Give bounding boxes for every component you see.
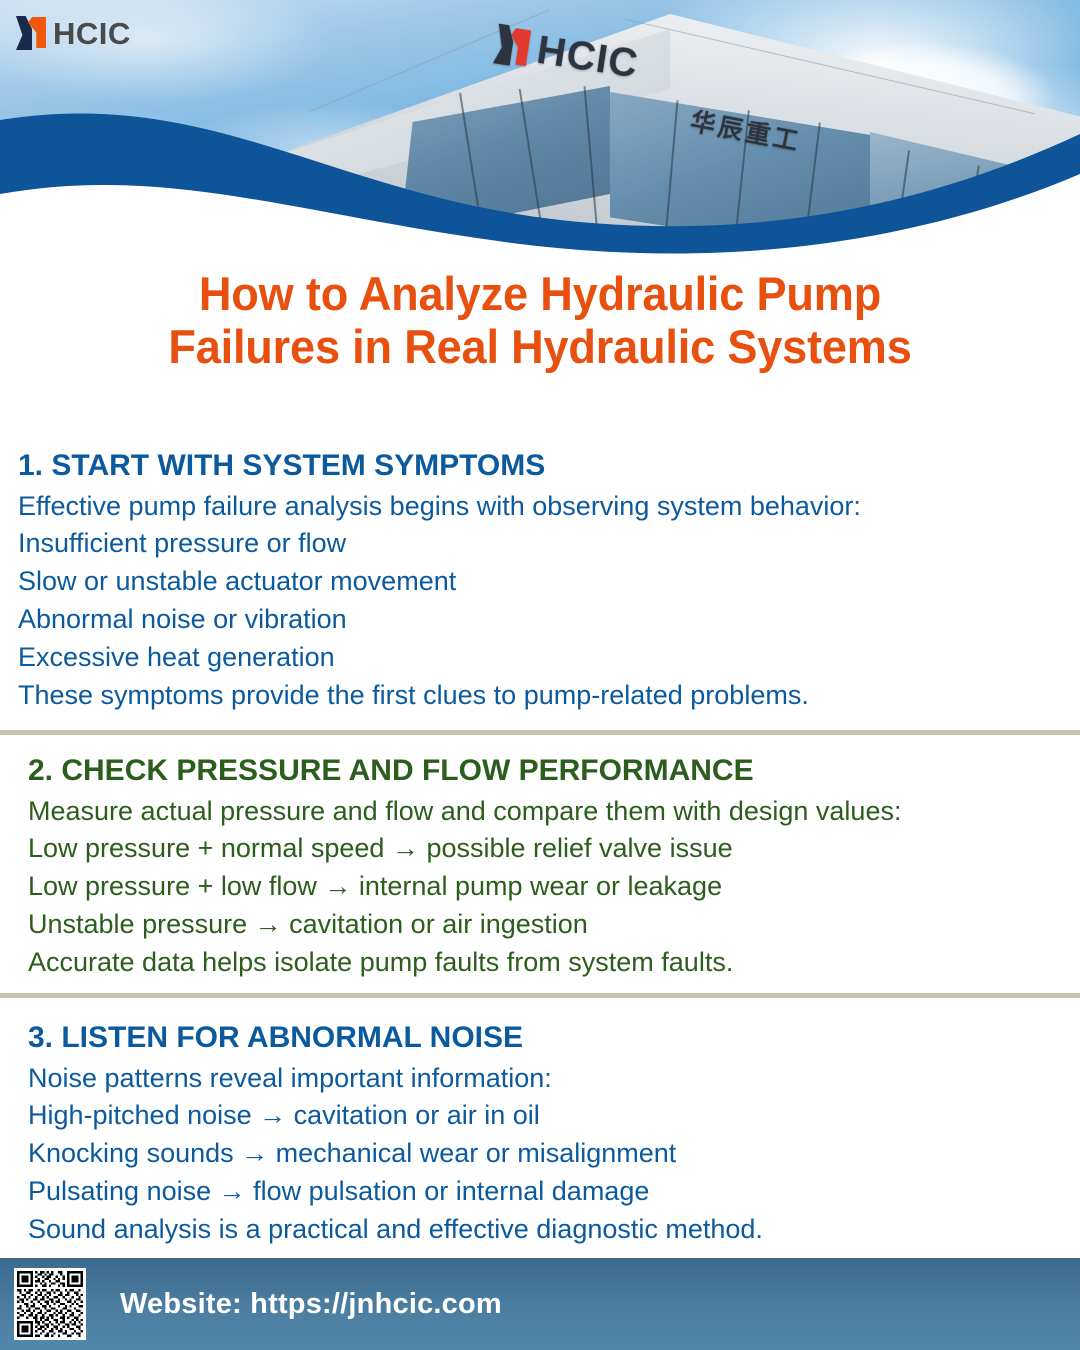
section-1-line: Abnormal noise or vibration	[18, 601, 1058, 639]
section-1-line: These symptoms provide the first clues t…	[18, 677, 1058, 715]
section-2-line: Accurate data helps isolate pump faults …	[28, 944, 1068, 982]
section-1-line: Slow or unstable actuator movement	[18, 563, 1058, 601]
section-3-line: Knocking sounds → mechanical wear or mis…	[28, 1135, 1068, 1173]
section-2-line: Low pressure + normal speed → possible r…	[28, 830, 1068, 868]
section-2-line: Measure actual pressure and flow and com…	[28, 793, 1068, 831]
section-3-line: Sound analysis is a practical and effect…	[28, 1211, 1068, 1249]
section-divider-1	[0, 730, 1080, 735]
page-title-line-1: How to Analyze Hydraulic Pump	[22, 268, 1059, 321]
section-3: 3. LISTEN FOR ABNORMAL NOISE Noise patte…	[28, 1020, 1068, 1249]
qr-code[interactable]	[14, 1268, 86, 1340]
section-2: 2. CHECK PRESSURE AND FLOW PERFORMANCE M…	[28, 753, 1068, 982]
brand-logo-text: HCIC	[53, 18, 131, 49]
hero-banner: HCIC 华辰重工 HCIC	[0, 0, 1080, 258]
white-wave-mask	[0, 108, 1080, 258]
section-divider-2	[0, 993, 1080, 998]
page-title: How to Analyze Hydraulic Pump Failures i…	[22, 268, 1059, 373]
brand-logo: HCIC	[16, 16, 131, 50]
section-3-line: Pulsating noise → flow pulsation or inte…	[28, 1173, 1068, 1211]
website-label[interactable]: Website: https://jnhcic.com	[120, 1288, 502, 1321]
hcic-logo-mark-building	[493, 24, 533, 69]
section-3-heading: 3. LISTEN FOR ABNORMAL NOISE	[28, 1020, 1068, 1057]
section-2-line: Low pressure + low flow → internal pump …	[28, 868, 1068, 906]
section-1-heading: 1. START WITH SYSTEM SYMPTOMS	[18, 448, 1058, 485]
section-1-line: Excessive heat generation	[18, 639, 1058, 677]
qr-code-image	[17, 1271, 83, 1337]
section-3-line: Noise patterns reveal important informat…	[28, 1060, 1068, 1098]
section-2-line: Unstable pressure → cavitation or air in…	[28, 906, 1068, 944]
section-2-heading: 2. CHECK PRESSURE AND FLOW PERFORMANCE	[28, 753, 1068, 790]
section-1: 1. START WITH SYSTEM SYMPTOMS Effective …	[18, 448, 1058, 714]
section-1-line: Insufficient pressure or flow	[18, 525, 1058, 563]
section-3-line: High-pitched noise → cavitation or air i…	[28, 1097, 1068, 1135]
hcic-logo-mark	[16, 16, 46, 50]
page-title-line-2: Failures in Real Hydraulic Systems	[22, 321, 1059, 374]
footer-bar: Website: https://jnhcic.com	[0, 1258, 1080, 1350]
section-1-line: Effective pump failure analysis begins w…	[18, 488, 1058, 526]
